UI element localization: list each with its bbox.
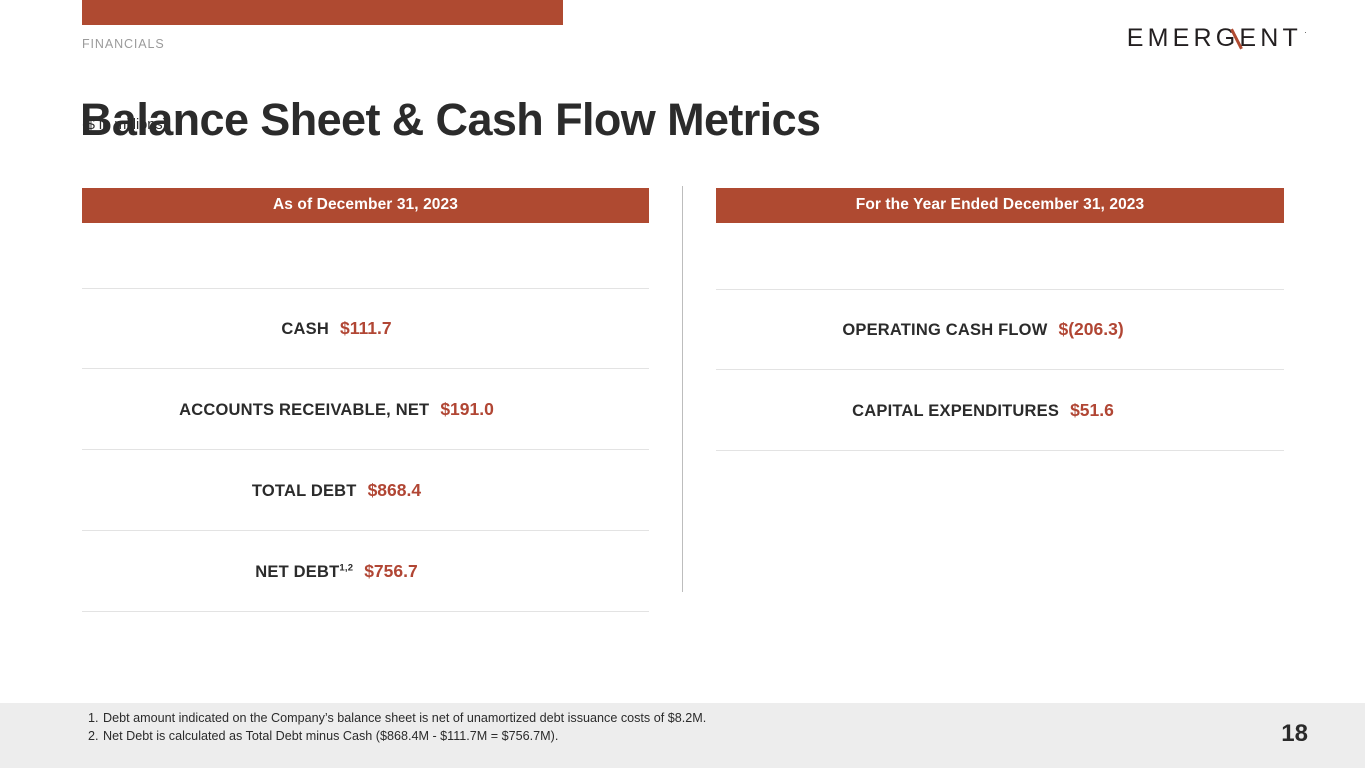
metric-row: OPERATING CASH FLOW $(206.3) — [716, 289, 1284, 370]
logo-wordmark: EMERGENT — [1127, 26, 1302, 51]
metric-label: CASH — [281, 320, 329, 339]
metric-label: OPERATING CASH FLOW — [842, 321, 1047, 340]
metric-label: TOTAL DEBT — [252, 482, 357, 501]
footnote-text: Debt amount indicated on the Company’s b… — [103, 710, 706, 728]
page-subtitle: ($ in millions) — [82, 117, 167, 133]
metric-row: CAPITAL EXPENDITURES $51.6 — [716, 370, 1284, 451]
column-header-cash-flow: For the Year Ended December 31, 2023 — [716, 188, 1284, 223]
metric-value: $(206.3) — [1058, 319, 1123, 340]
footnote-item: 1. Debt amount indicated on the Company’… — [88, 710, 706, 728]
footnotes: 1. Debt amount indicated on the Company’… — [88, 710, 706, 746]
metric-row: NET DEBT1,2 $756.7 — [82, 531, 649, 612]
column-balance-sheet: As of December 31, 2023 CASH $111.7 ACCO… — [82, 188, 649, 612]
page-title: Balance Sheet & Cash Flow Metrics — [80, 94, 820, 146]
footnote-item: 2. Net Debt is calculated as Total Debt … — [88, 728, 706, 746]
logo-trademark-mark: · — [1304, 28, 1307, 37]
section-eyebrow: FINANCIALS — [82, 37, 165, 51]
metric-value: $191.0 — [440, 399, 494, 420]
footnote-reference: 1,2 — [339, 562, 353, 573]
metric-list-balance-sheet: CASH $111.7 ACCOUNTS RECEIVABLE, NET $19… — [82, 288, 649, 612]
page-number: 18 — [1281, 720, 1308, 748]
emergent-logo: EMERGENT · — [1127, 26, 1307, 51]
metric-label: NET DEBT1,2 — [255, 563, 353, 582]
metric-row: CASH $111.7 — [82, 288, 649, 369]
metric-label: ACCOUNTS RECEIVABLE, NET — [179, 401, 429, 420]
column-header-balance-sheet: As of December 31, 2023 — [82, 188, 649, 223]
metric-row: TOTAL DEBT $868.4 — [82, 450, 649, 531]
footnote-text: Net Debt is calculated as Total Debt min… — [103, 728, 558, 746]
metric-value: $756.7 — [364, 561, 418, 582]
metric-row: ACCOUNTS RECEIVABLE, NET $191.0 — [82, 369, 649, 450]
column-cash-flow: For the Year Ended December 31, 2023 OPE… — [716, 188, 1284, 451]
footnote-number: 1. — [88, 710, 103, 728]
metric-label: CAPITAL EXPENDITURES — [852, 402, 1059, 421]
column-divider — [682, 186, 683, 592]
metric-list-cash-flow: OPERATING CASH FLOW $(206.3) CAPITAL EXP… — [716, 289, 1284, 451]
metric-value: $868.4 — [368, 480, 422, 501]
footnote-number: 2. — [88, 728, 103, 746]
metric-value: $51.6 — [1070, 400, 1114, 421]
top-accent-bar — [82, 0, 563, 25]
slide-balance-sheet-cash-flow: { "brand": { "accent_red": "#AF4A31", "v… — [0, 0, 1365, 768]
metric-value: $111.7 — [340, 318, 392, 339]
